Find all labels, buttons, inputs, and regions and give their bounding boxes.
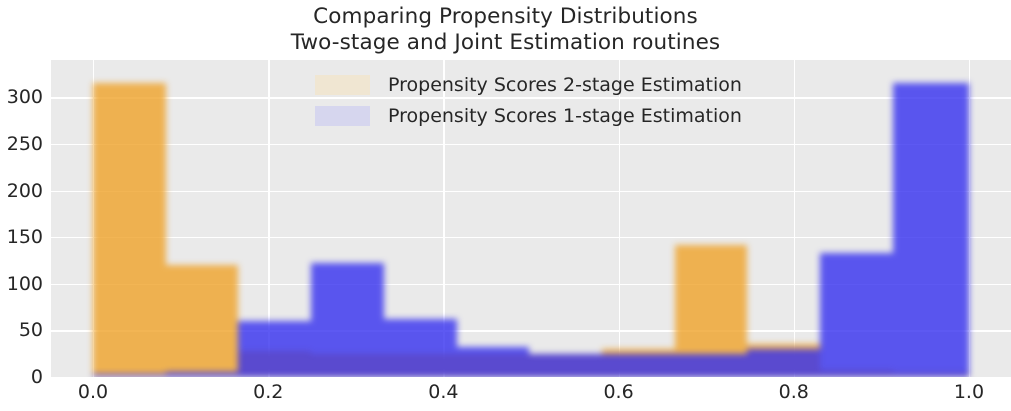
x-axis-tick-label: 0.0	[78, 381, 108, 403]
chart-title-line-2: Two-stage and Joint Estimation routines	[0, 30, 1011, 56]
legend-label-1stage: Propensity Scores 1-stage Estimation	[388, 105, 742, 127]
y-axis-tick-label: 200	[0, 180, 43, 202]
x-axis-tick-label: 0.2	[253, 381, 283, 403]
x-axis-tick-label: 0.8	[779, 381, 809, 403]
histogram-bar	[529, 354, 602, 377]
y-axis-ticks: 050100150200250300	[0, 0, 43, 411]
legend-entry: Propensity Scores 2-stage Estimation	[315, 72, 742, 98]
chart-title: Comparing Propensity Distributions Two-s…	[0, 4, 1011, 56]
histogram-bar	[457, 347, 530, 377]
legend-swatch-1stage	[315, 106, 370, 126]
chart-legend: Propensity Scores 2-stage Estimation Pro…	[315, 72, 742, 129]
legend-entry: Propensity Scores 1-stage Estimation	[315, 103, 742, 129]
histogram-bar	[384, 319, 457, 377]
legend-swatch-2stage	[315, 75, 370, 95]
y-axis-tick-label: 0	[0, 366, 43, 388]
y-axis-tick-label: 100	[0, 273, 43, 295]
y-axis-tick-label: 250	[0, 133, 43, 155]
histogram-bar	[893, 83, 969, 377]
histogram-bar	[238, 321, 311, 377]
x-axis-tick-label: 0.6	[603, 381, 633, 403]
histogram-bar	[675, 354, 748, 377]
chart-title-line-1: Comparing Propensity Distributions	[313, 4, 698, 29]
histogram-bar	[93, 374, 166, 377]
x-axis-ticks: 0.00.20.40.60.81.0	[51, 381, 1011, 411]
x-axis-tick-label: 1.0	[954, 381, 984, 403]
histogram-bar	[747, 349, 820, 377]
x-axis-tick-label: 0.4	[428, 381, 458, 403]
histogram-bar	[602, 354, 675, 377]
y-axis-tick-label: 300	[0, 86, 43, 108]
y-axis-tick-label: 150	[0, 226, 43, 248]
legend-label-2stage: Propensity Scores 2-stage Estimation	[388, 74, 742, 96]
histogram-bar	[820, 253, 893, 377]
chart-figure: Comparing Propensity Distributions Two-s…	[0, 0, 1011, 411]
histogram-bar	[166, 372, 239, 377]
y-axis-tick-label: 50	[0, 319, 43, 341]
histogram-bar	[311, 263, 384, 377]
